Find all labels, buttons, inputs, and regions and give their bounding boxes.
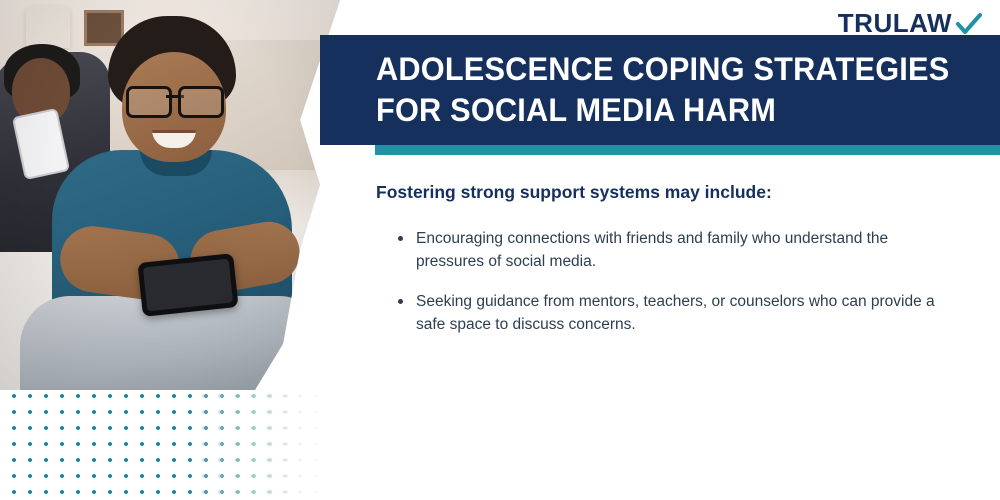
list-item: Encouraging connections with friends and… — [398, 227, 936, 274]
bullet-list: Encouraging connections with friends and… — [376, 227, 976, 337]
body-content: Fostering strong support systems may inc… — [376, 180, 976, 353]
check-icon — [956, 13, 982, 35]
title-band: ADOLESCENCE COPING STRATEGIES FOR SOCIAL… — [320, 35, 1000, 145]
infographic-canvas: TRULAW ADOLESCENCE COPING STRATEGIES FOR… — [0, 0, 1000, 500]
content-panel: TRULAW ADOLESCENCE COPING STRATEGIES FOR… — [320, 0, 1000, 500]
lead-paragraph: Fostering strong support systems may inc… — [376, 180, 856, 205]
list-item: Seeking guidance from mentors, teachers,… — [398, 290, 936, 337]
page-title-line-1: ADOLESCENCE COPING STRATEGIES — [376, 49, 950, 90]
teal-accent-bar — [375, 145, 1000, 155]
page-title-line-2: FOR SOCIAL MEDIA HARM — [376, 90, 950, 131]
